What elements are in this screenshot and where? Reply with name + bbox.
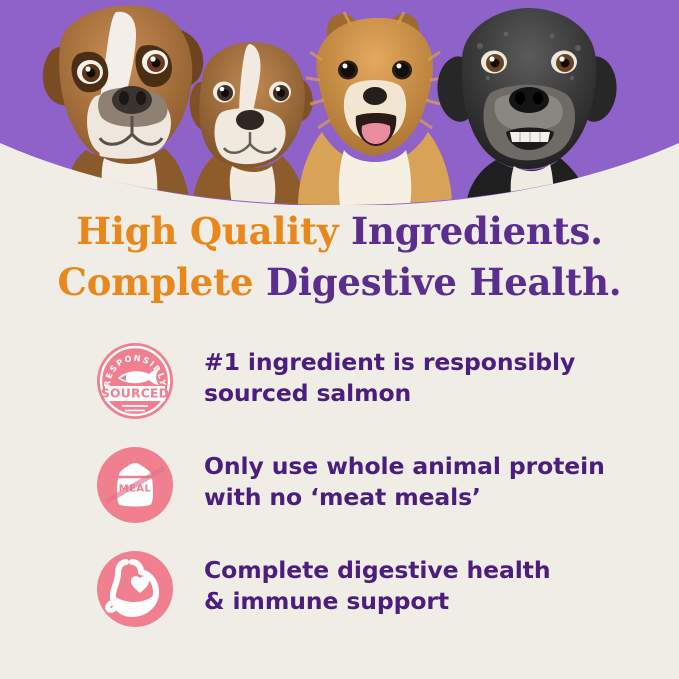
feature-text-digestive-health: Complete digestive health & immune suppo… [204,548,616,618]
feature-item-whole-animal-protein: MEAL Only use whole animal protein with … [96,444,616,548]
feature-3-line-1: Complete digestive health [204,555,616,586]
hero-banner [0,0,679,205]
dog-photo-illustration [0,0,679,205]
headline-line-1-purple: Ingredients. [351,209,603,253]
headline: High Quality Ingredients. Complete Diges… [0,206,679,307]
feature-2-line-2: with no ‘meat meals’ [204,482,616,513]
headline-line-2-orange: Complete [58,260,266,304]
feature-3-line-2: & immune support [204,586,616,617]
badge-main-text: SOURCED [101,386,169,401]
headline-line-2-purple: Digestive Health. [266,260,621,304]
brown-puppy [190,42,313,205]
responsibly-sourced-badge-icon: RESPONSIBLY SOURCED [96,342,174,420]
no-meat-meal-sack-icon: MEAL [96,446,174,524]
feature-text-responsibly-sourced: #1 ingredient is responsibly sourced sal… [204,340,616,410]
product-feature-infographic: High Quality Ingredients. Complete Diges… [0,0,679,679]
feature-item-responsibly-sourced: RESPONSIBLY SOURCED [96,340,616,444]
feature-item-digestive-health: Complete digestive health & immune suppo… [96,548,616,652]
boxer-dog [43,5,203,205]
stomach-heart-digestive-icon [96,550,174,628]
headline-line-1-orange: High Quality [76,209,351,253]
feature-1-line-2: sourced salmon [204,378,616,409]
feature-text-whole-animal-protein: Only use whole animal protein with no ‘m… [204,444,616,514]
headline-line-1: High Quality Ingredients. [0,206,679,257]
feature-list: RESPONSIBLY SOURCED [96,340,616,652]
feature-1-line-1: #1 ingredient is responsibly [204,347,616,378]
headline-line-2: Complete Digestive Health. [0,257,679,308]
feature-2-line-1: Only use whole animal protein [204,451,616,482]
